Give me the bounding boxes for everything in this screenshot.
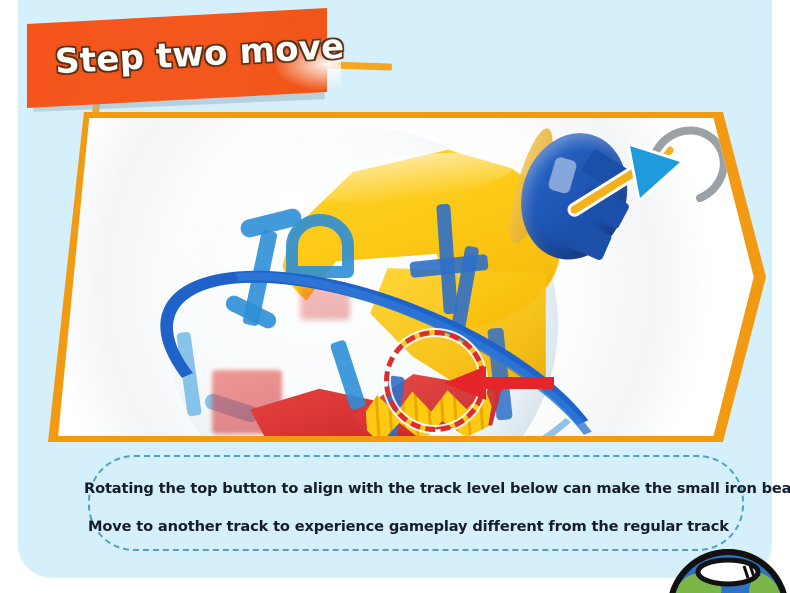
arrow-head: [444, 366, 486, 400]
arrow-shaft: [478, 377, 554, 389]
earth-globe-icon: [666, 548, 790, 593]
photo-frame: [48, 112, 766, 442]
blue-track-hook: [286, 214, 354, 278]
red-left-arrow-icon: [444, 366, 554, 400]
photo-frame-inner: [54, 118, 760, 436]
step-banner: Step two move: [27, 8, 337, 120]
caption-text-block: Rotating the top button to align with th…: [84, 470, 764, 546]
page-root: Step two move Rotating the top button to…: [0, 0, 790, 593]
caption-line-2: Move to another track to experience game…: [84, 508, 764, 546]
caption-line-1: Rotating the top button to align with th…: [84, 470, 764, 508]
maze-ball-toy-photo: [54, 118, 760, 436]
